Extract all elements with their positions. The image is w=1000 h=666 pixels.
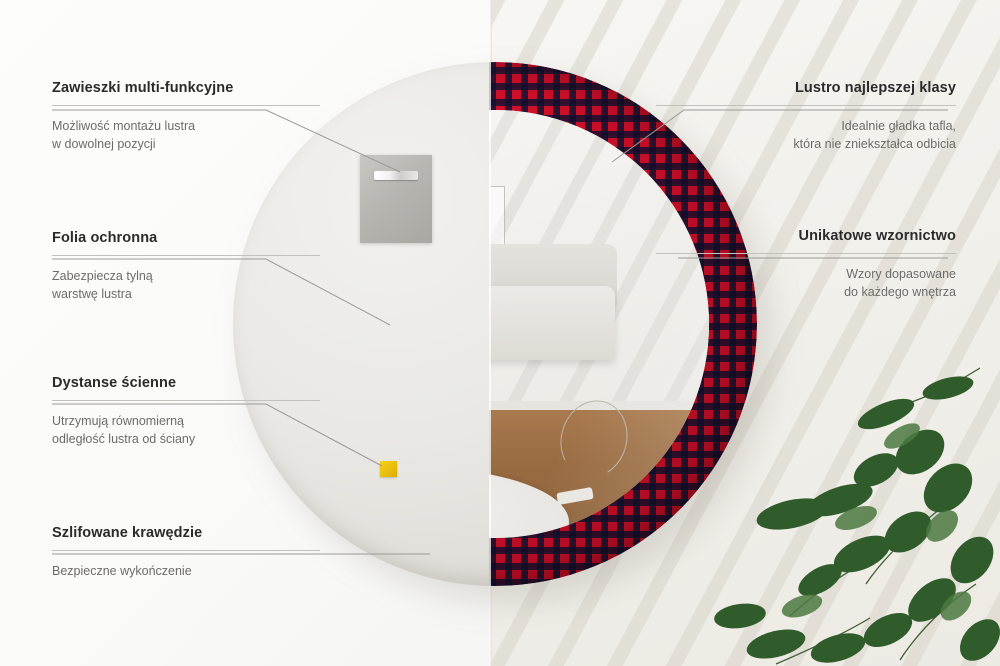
callout-quality: Lustro najlepszej klasy Idealnie gładka … [656, 80, 956, 153]
callout-design: Unikatowe wzornictwo Wzory dopasowane do… [656, 228, 956, 301]
callout-design-title: Unikatowe wzornictwo [656, 228, 956, 244]
callout-foil-desc-line2: warstwę lustra [52, 285, 320, 303]
foliage-decoration [680, 348, 1000, 666]
callout-design-desc-line2: do każdego wnętrza [656, 283, 956, 301]
callout-quality-desc-line2: która nie zniekształca odbicia [656, 135, 956, 153]
mirror-split-edge [489, 62, 491, 586]
infographic-stage: Zawieszki multi-funkcyjne Możliwość mont… [0, 0, 1000, 666]
callout-quality-desc-line1: Idealnie gładka tafla, [656, 117, 956, 135]
callout-spacers-title: Dystanse ścienne [52, 375, 320, 391]
hanger-slot-icon [374, 171, 418, 180]
callout-spacers-desc-line2: odległość lustra od ściany [52, 430, 320, 448]
callout-hangers-desc-line2: w dowolnej pozycji [52, 135, 320, 153]
callout-hangers: Zawieszki multi-funkcyjne Możliwość mont… [52, 80, 320, 153]
hanger-detail-panel [360, 155, 432, 243]
callout-hangers-desc-line1: Możliwość montażu lustra [52, 117, 320, 135]
callout-spacers: Dystanse ścienne Utrzymują równomierną o… [52, 375, 320, 448]
callout-edges: Szlifowane krawędzie Bezpieczne wykończe… [52, 525, 320, 580]
callout-quality-rule [656, 105, 956, 106]
callout-edges-desc-line1: Bezpieczne wykończenie [52, 562, 320, 580]
callout-hangers-title: Zawieszki multi-funkcyjne [52, 80, 320, 96]
callout-foil: Folia ochronna Zabezpiecza tylną warstwę… [52, 230, 320, 303]
callout-spacers-desc-line1: Utrzymują równomierną [52, 412, 320, 430]
floor-lamp [551, 400, 637, 504]
callout-quality-title: Lustro najlepszej klasy [656, 80, 956, 96]
callout-hangers-rule [52, 105, 320, 106]
floor-lamp-base [556, 487, 594, 505]
callout-design-desc-line1: Wzory dopasowane [656, 265, 956, 283]
wall-spacer-chip [380, 461, 397, 477]
callout-foil-title: Folia ochronna [52, 230, 320, 246]
callout-foil-rule [52, 255, 320, 256]
callout-spacers-rule [52, 400, 320, 401]
callout-design-rule [656, 253, 956, 254]
callout-edges-title: Szlifowane krawędzie [52, 525, 320, 541]
callout-edges-rule [52, 550, 320, 551]
floor-lamp-arc [552, 392, 637, 485]
callout-foil-desc-line1: Zabezpiecza tylną [52, 267, 320, 285]
